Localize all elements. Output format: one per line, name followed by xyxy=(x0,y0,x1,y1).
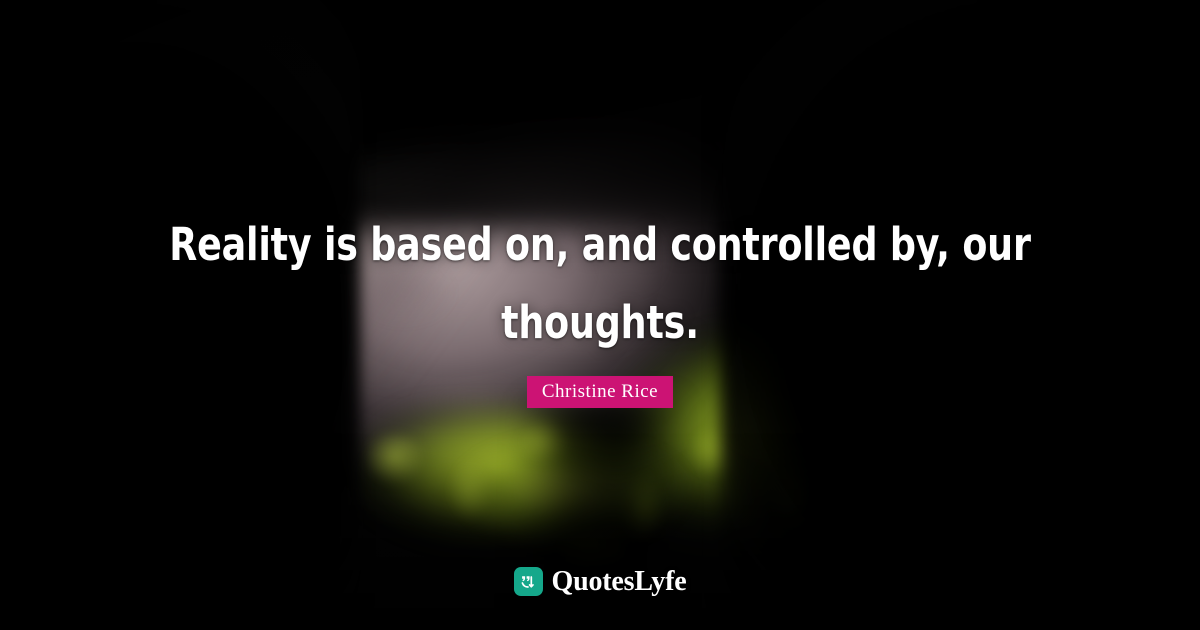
quote-text: Reality is based on, and controlled by, … xyxy=(159,206,1041,362)
author-name-badge[interactable]: Christine Rice xyxy=(527,376,673,408)
brand-logo[interactable]: QuotesLyfe xyxy=(0,567,1200,596)
quote-mark-icon xyxy=(514,567,543,596)
quote-card: Reality is based on, and controlled by, … xyxy=(0,0,1200,630)
card-content: Reality is based on, and controlled by, … xyxy=(0,0,1200,630)
brand-name: QuotesLyfe xyxy=(552,568,687,596)
quote-block: Reality is based on, and controlled by, … xyxy=(0,206,1200,362)
author-attribution: Christine Rice xyxy=(0,376,1200,408)
